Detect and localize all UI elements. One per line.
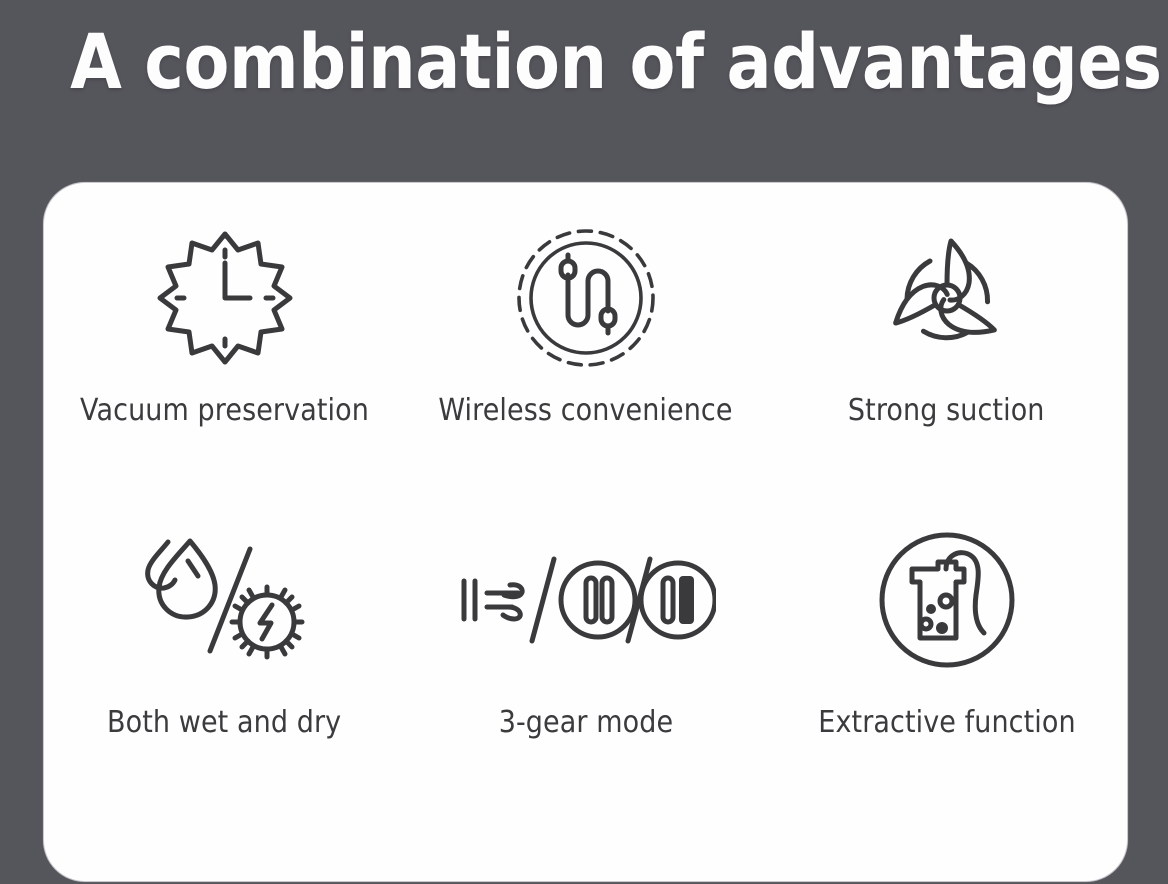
- feature-label: Both wet and dry: [107, 705, 341, 741]
- feature-label: 3-gear mode: [498, 705, 672, 741]
- feature-label: Wireless convenience: [438, 393, 732, 429]
- wireless-cable-circle-icon: [511, 223, 661, 373]
- gear-three-glyph: [641, 563, 715, 637]
- slide-root: A combination of advantages Vacuum prese…: [0, 0, 1168, 884]
- three-gear-mode-icon: [456, 525, 716, 675]
- feature-extractive-function[interactable]: Extractive function: [766, 493, 1127, 789]
- feature-3-gear-mode[interactable]: 3-gear mode: [405, 493, 766, 789]
- vacuum-canister-hose-circle-icon: [872, 525, 1022, 675]
- three-blade-fan-icon: [872, 223, 1022, 373]
- features-card: Vacuum preservation: [43, 182, 1128, 882]
- water-droplets-slash-sun-bolt-icon: [130, 525, 320, 675]
- feature-vacuum-preservation[interactable]: Vacuum preservation: [44, 197, 405, 493]
- feature-wireless-convenience[interactable]: Wireless convenience: [405, 197, 766, 493]
- feature-strong-suction[interactable]: Strong suction: [766, 197, 1127, 493]
- gear-two-glyph: [561, 563, 635, 637]
- gear-one-wind-glyph: [464, 581, 522, 619]
- starburst-clock-icon: [150, 223, 300, 373]
- feature-label: Extractive function: [818, 705, 1075, 741]
- features-grid: Vacuum preservation: [44, 183, 1127, 881]
- feature-label: Vacuum preservation: [80, 393, 369, 429]
- feature-label: Strong suction: [848, 393, 1045, 429]
- feature-both-wet-and-dry[interactable]: Both wet and dry: [44, 493, 405, 789]
- page-title: A combination of advantages: [70, 14, 1098, 110]
